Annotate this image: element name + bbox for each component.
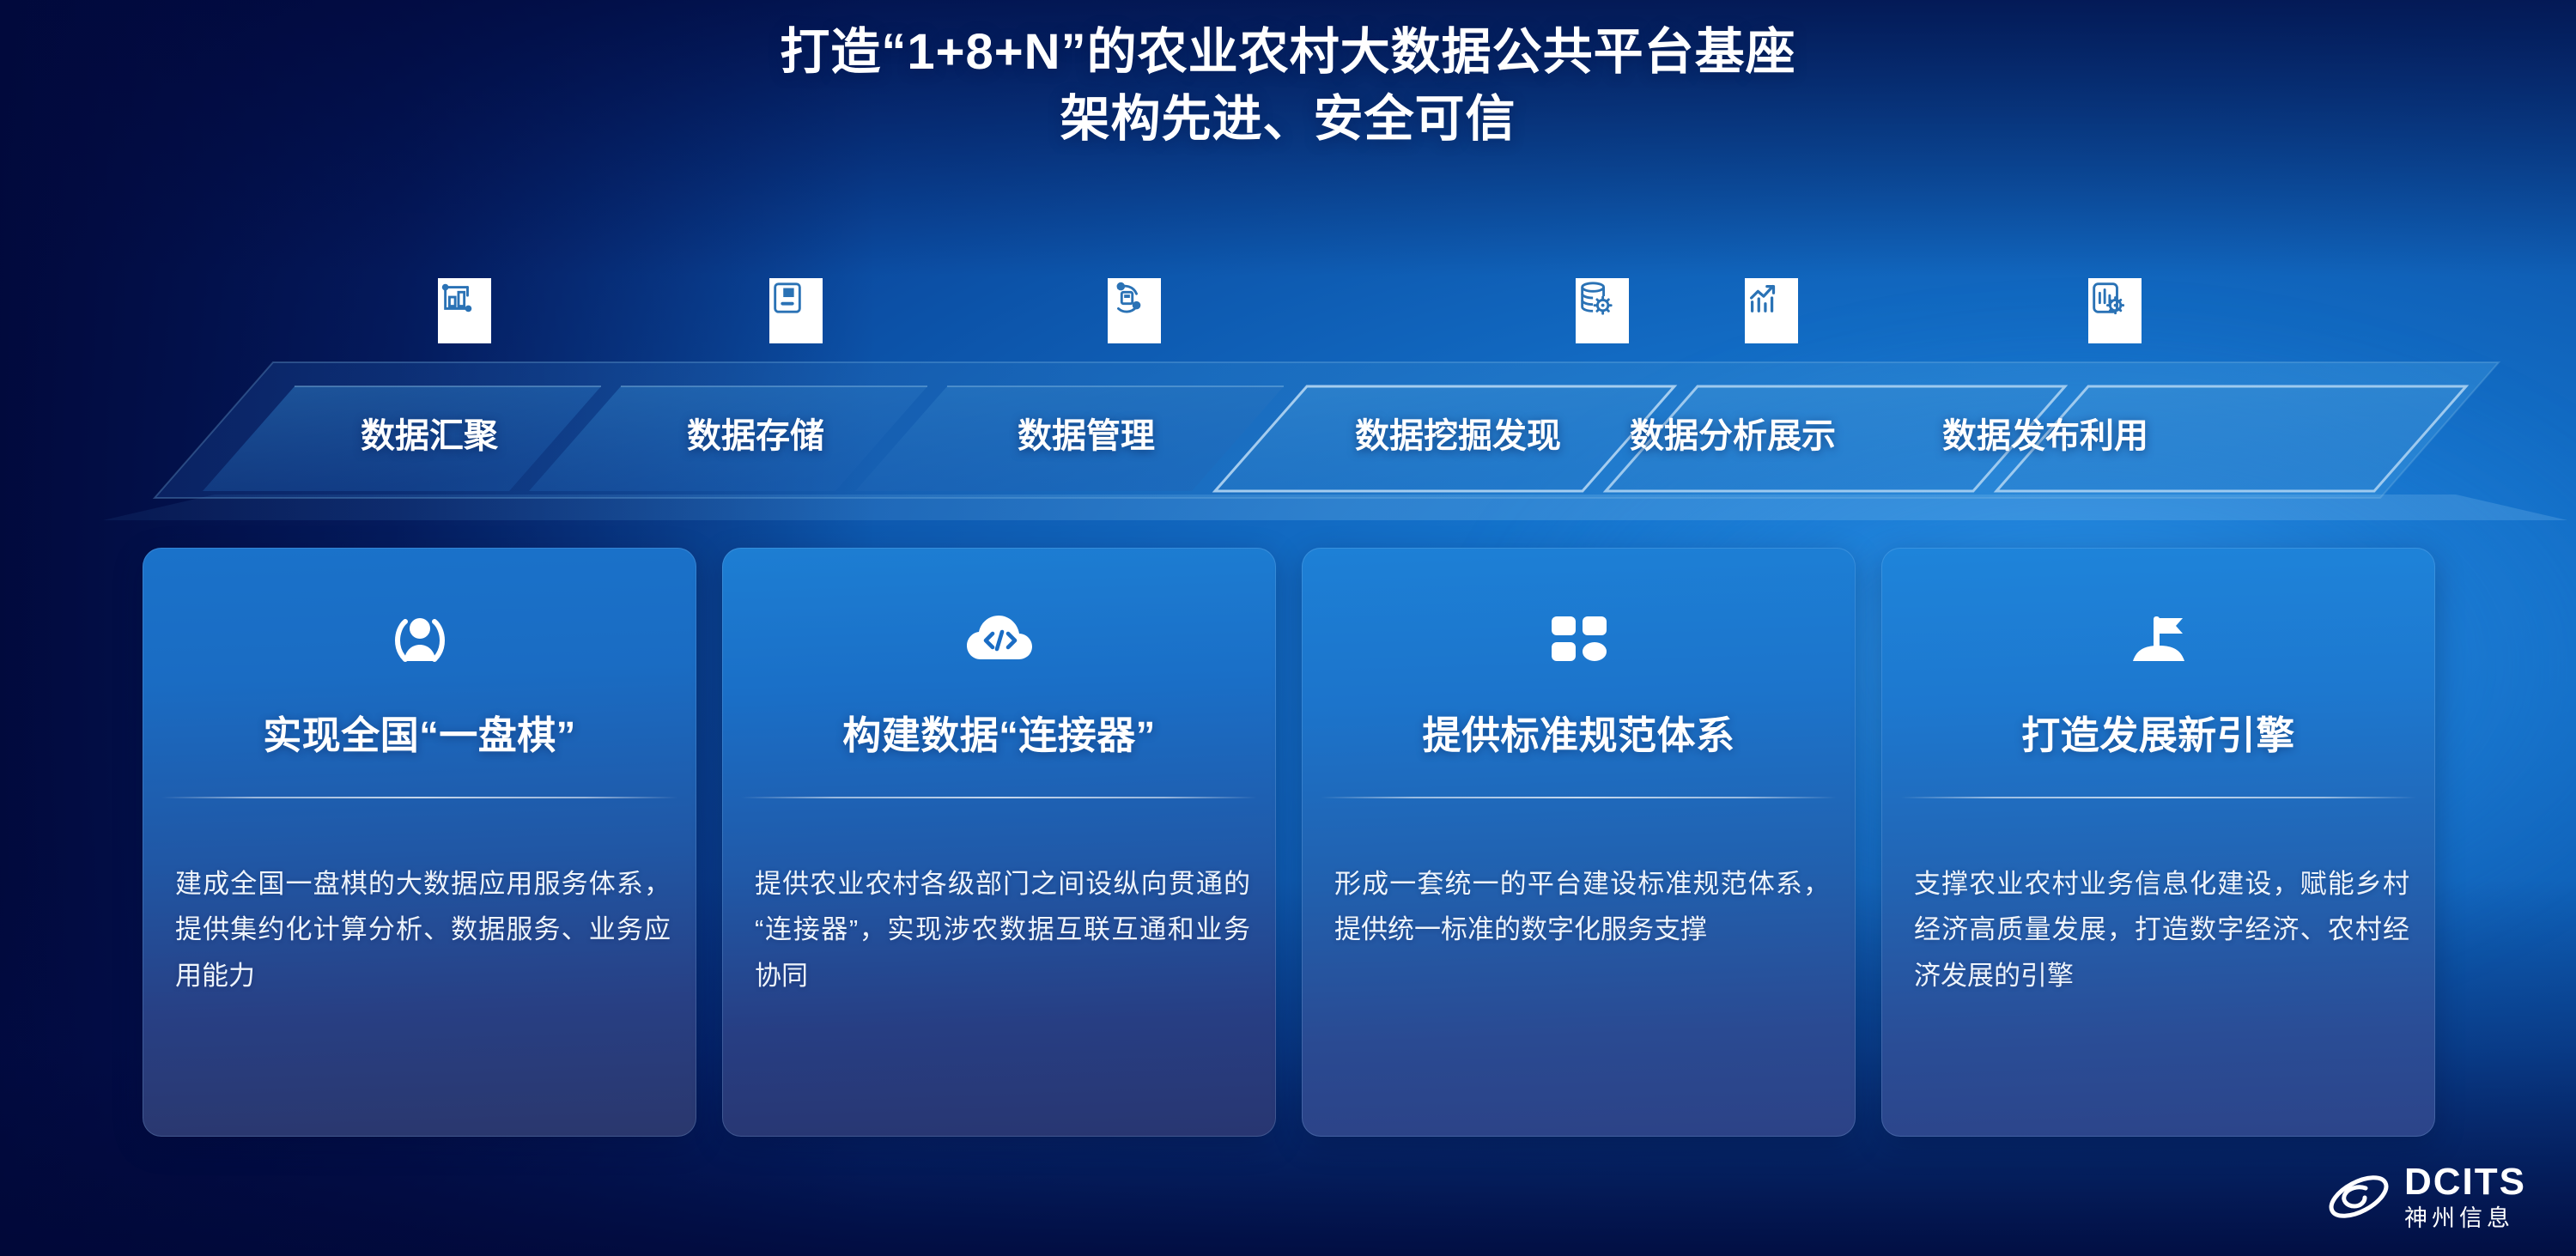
- cloud-code-icon: [722, 611, 1276, 668]
- page-title-line-1: 打造“1+8+N”的农业农村大数据公共平台基座: [780, 24, 1795, 80]
- ribbon-chip-label-2[interactable]: 数据管理: [1018, 408, 1155, 458]
- four-blocks-icon: [1302, 611, 1856, 668]
- page-title-line-2: 架构先进、安全可信: [0, 86, 2576, 153]
- ribbon-chip-label-3[interactable]: 数据挖掘发现: [1355, 408, 1561, 458]
- flag-hill-icon: [1881, 611, 2435, 668]
- database-gear-icon: [1576, 278, 1629, 343]
- value-card-0[interactable]: 实现全国“一盘棋” 建成全国一盘棋的大数据应用服务体系，提供集约化计算分析、数据…: [143, 548, 696, 1137]
- page-title: 打造“1+8+N”的农业农村大数据公共平台基座 架构先进、安全可信: [0, 19, 2576, 152]
- brand-logo-text: DCITS 神州信息: [2404, 1163, 2526, 1230]
- value-card-title-2: 提供标准规范体系: [1302, 704, 1856, 760]
- value-card-title-1: 构建数据“连接器”: [722, 704, 1276, 760]
- value-card-body-2: 形成一套统一的平台建设标准规范体系，提供统一标准的数字化服务支撑: [1334, 861, 1830, 953]
- ribbon-chip-label-4[interactable]: 数据分析展示: [1630, 408, 1836, 458]
- brand-logo-cn: 神州信息: [2404, 1207, 2526, 1230]
- value-card-2[interactable]: 提供标准规范体系 形成一套统一的平台建设标准规范体系，提供统一标准的数字化服务支…: [1302, 548, 1856, 1137]
- value-card-title-0: 实现全国“一盘棋”: [143, 704, 696, 760]
- trend-analytics-icon: [1745, 278, 1798, 343]
- storage-device-icon: [769, 278, 823, 343]
- value-card-body-0: 建成全国一盘棋的大数据应用服务体系，提供集约化计算分析、数据服务、业务应用能力: [175, 861, 671, 998]
- brand-logo: DCITS 神州信息: [2325, 1163, 2526, 1230]
- bar-chart-frame-icon: [438, 278, 491, 343]
- ribbon-chip-label-5[interactable]: 数据发布利用: [1942, 408, 2148, 458]
- value-card-3[interactable]: 打造发展新引擎 支撑农业农村业务信息化建设，赋能乡村经济高质量发展，打造数字经济…: [1881, 548, 2435, 1137]
- orbit-swirl-icon: [2325, 1168, 2392, 1226]
- data-governance-node-icon: [1108, 278, 1161, 343]
- value-cards: 实现全国“一盘棋” 建成全国一盘棋的大数据应用服务体系，提供集约化计算分析、数据…: [143, 548, 2435, 1137]
- value-card-divider-0: [161, 797, 677, 798]
- publish-gear-icon: [2088, 278, 2142, 343]
- ribbon-chip-label-0[interactable]: 数据汇聚: [361, 408, 498, 458]
- people-group-icon: [143, 611, 696, 668]
- value-card-body-3: 支撑农业农村业务信息化建设，赋能乡村经济高质量发展，打造数字经济、农村经济发展的…: [1914, 861, 2409, 998]
- value-card-divider-3: [1900, 797, 2416, 798]
- capability-ribbon: 数据汇聚 数据存储 数据管理: [0, 283, 2576, 532]
- value-card-body-1: 提供农业农村各级部门之间设纵向贯通的“连接器”，实现涉农数据互联互通和业务协同: [755, 861, 1250, 998]
- brand-logo-en: DCITS: [2404, 1163, 2526, 1201]
- value-card-divider-1: [741, 797, 1257, 798]
- value-card-1[interactable]: 构建数据“连接器” 提供农业农村各级部门之间设纵向贯通的“连接器”，实现涉农数据…: [722, 548, 1276, 1137]
- value-card-divider-2: [1321, 797, 1837, 798]
- ribbon-chip-label-1[interactable]: 数据存储: [687, 408, 824, 458]
- value-card-title-3: 打造发展新引擎: [1881, 704, 2435, 760]
